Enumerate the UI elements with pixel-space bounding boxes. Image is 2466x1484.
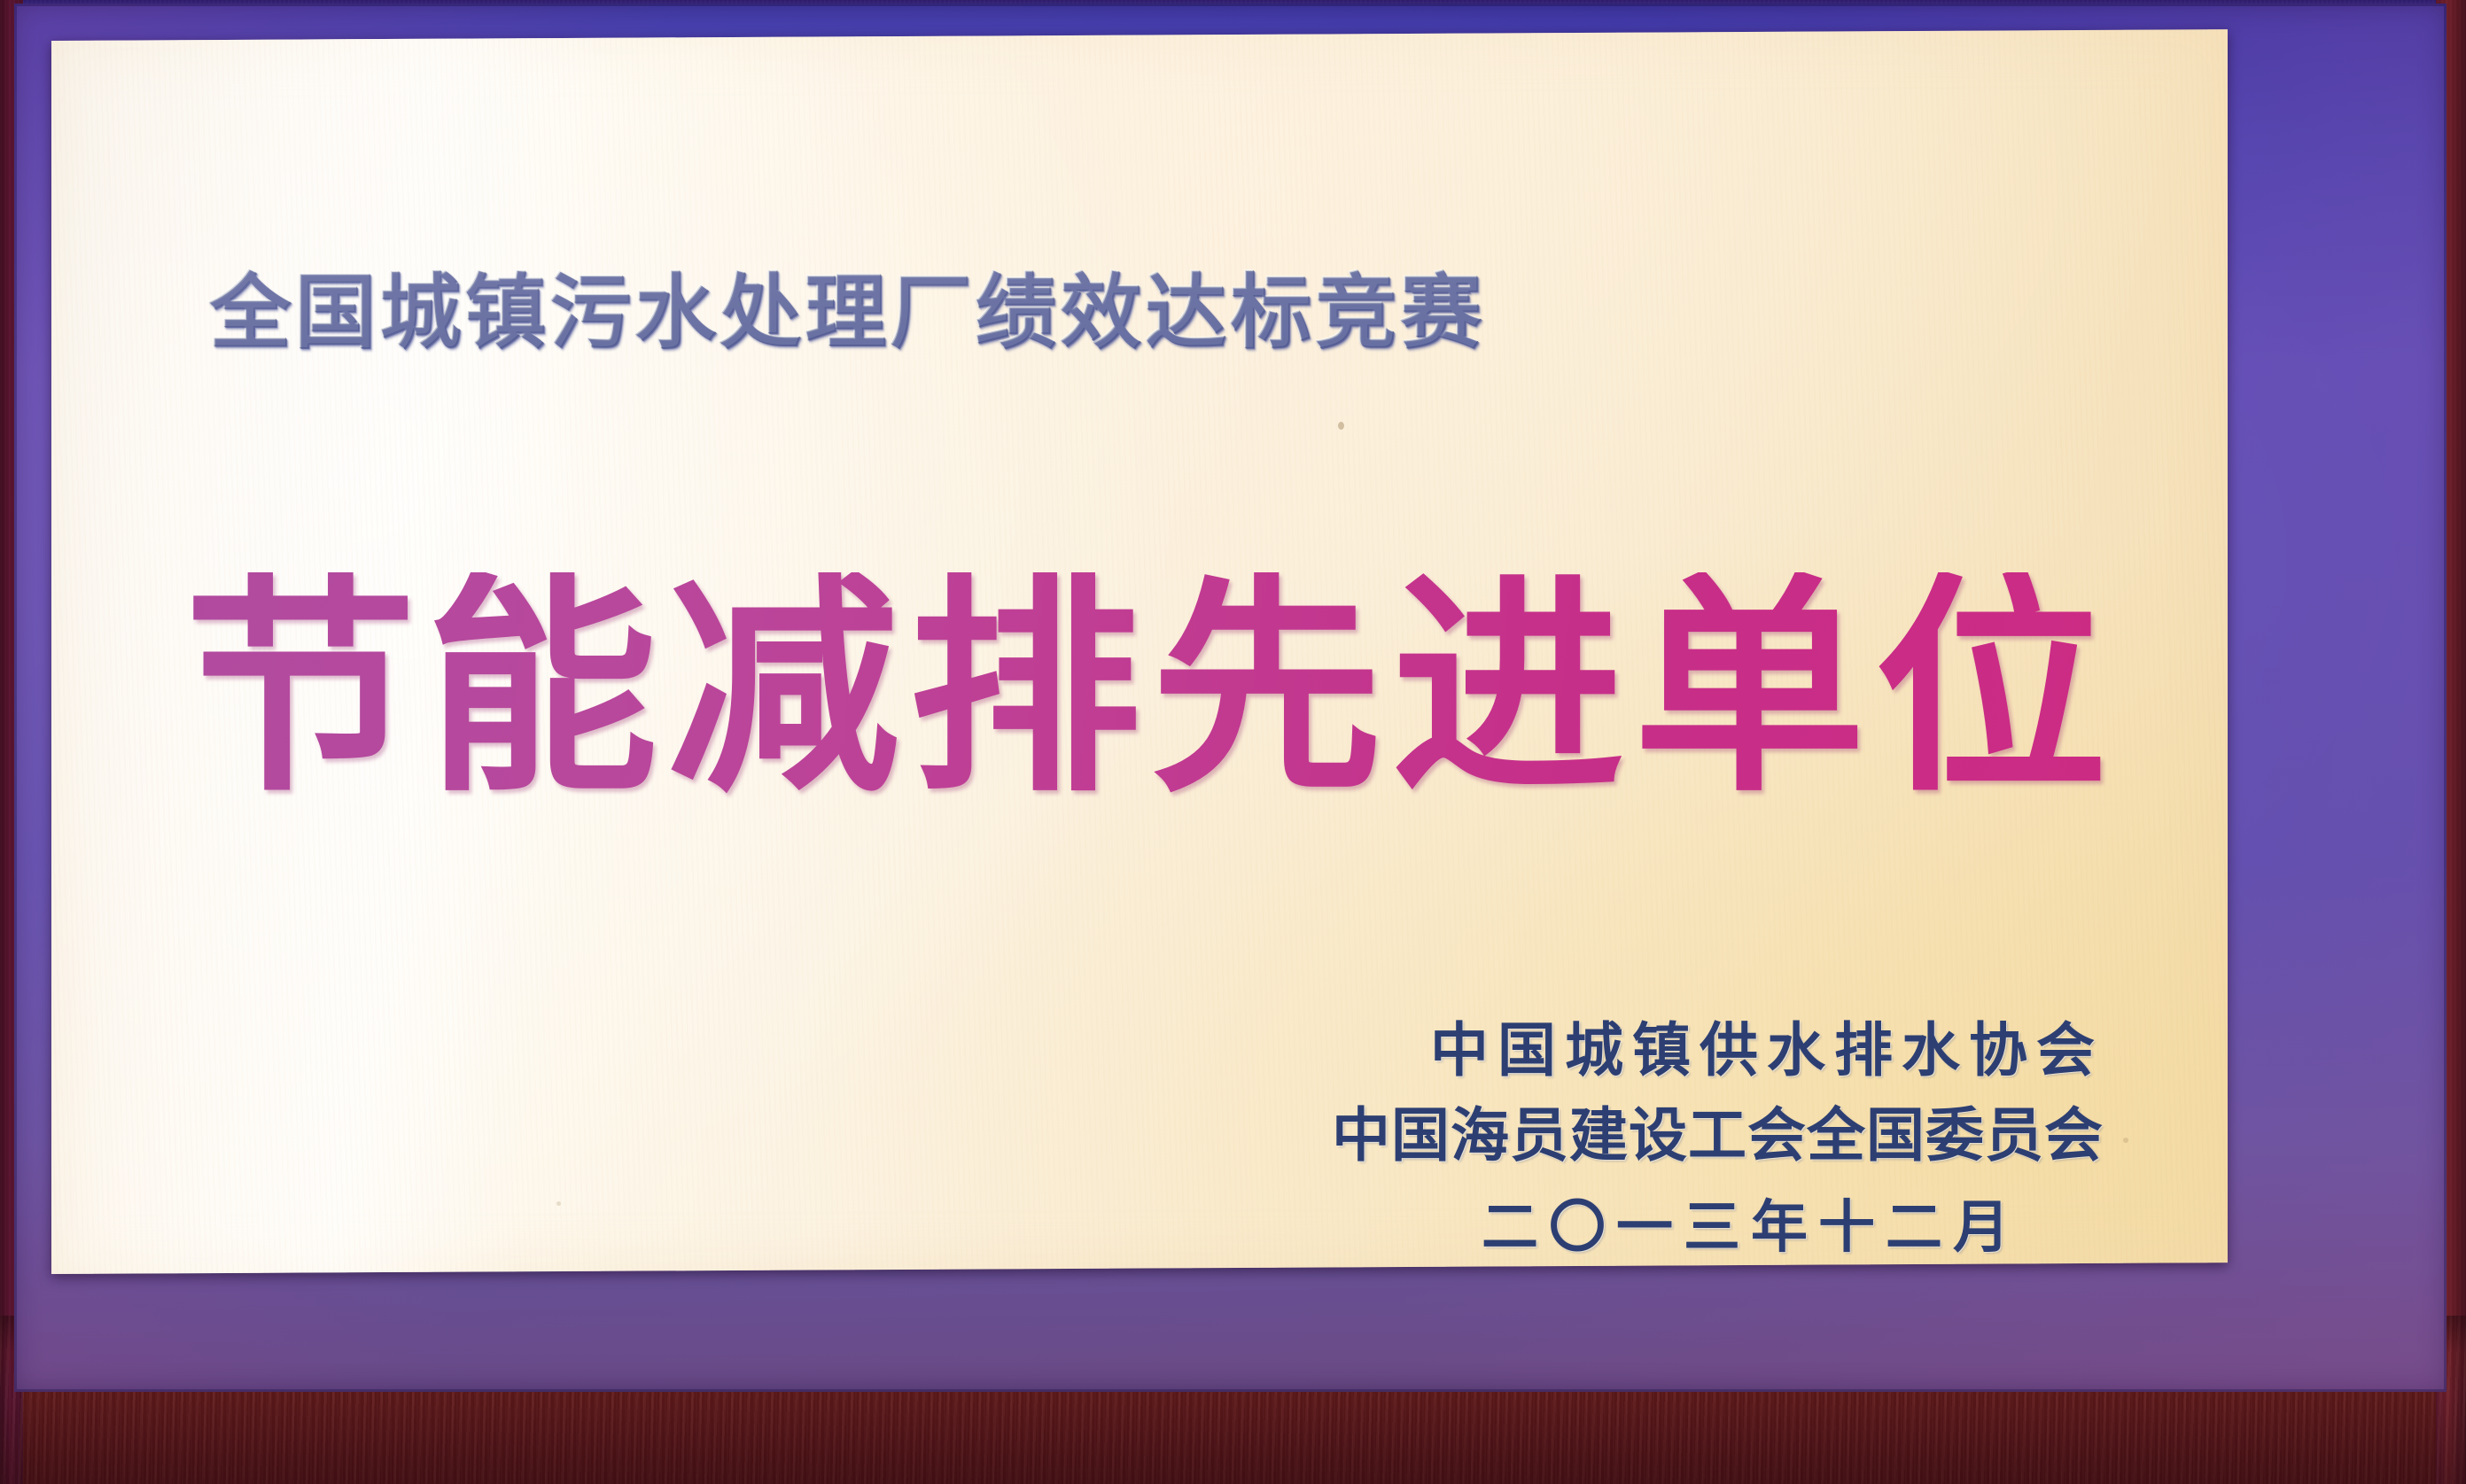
plate-speck [556, 1201, 561, 1206]
issuer-organization-secondary: 中国海员建设工会全国委员会 [1332, 1093, 2105, 1178]
headline-char: 排 [909, 572, 1141, 804]
headline-char: 位 [1875, 572, 2107, 804]
award-plaque-photo: 全国城镇污水处理厂绩效达标竞赛 节 能 减 排 先 进 单 位 中国城镇供水排水… [0, 0, 2466, 1484]
headline-char: 单 [1633, 572, 1865, 804]
issuer-signature-block: 中国城镇供水排水协会 中国海员建设工会全国委员会 二〇一三年十二月 [1332, 1008, 2105, 1274]
award-headline: 节 能 减 排 先 进 单 位 [184, 572, 2107, 804]
headline-char: 能 [426, 572, 658, 804]
headline-char: 进 [1392, 572, 1624, 804]
headline-char: 节 [184, 572, 416, 804]
plate-speck [2123, 1138, 2128, 1143]
headline-char: 减 [667, 572, 899, 804]
certificate-plate: 全国城镇污水处理厂绩效达标竞赛 节 能 减 排 先 进 单 位 中国城镇供水排水… [51, 29, 2228, 1274]
plate-content: 全国城镇污水处理厂绩效达标竞赛 节 能 减 排 先 进 单 位 中国城镇供水排水… [51, 41, 2228, 1274]
issuer-organization-primary: 中国城镇供水排水协会 [1332, 1008, 2105, 1093]
competition-title: 全国城镇污水处理厂绩效达标竞赛 [209, 246, 1485, 364]
plate-speck [1338, 422, 1344, 430]
headline-char: 先 [1150, 572, 1382, 804]
issue-date: 二〇一三年十二月 [1332, 1183, 2105, 1273]
